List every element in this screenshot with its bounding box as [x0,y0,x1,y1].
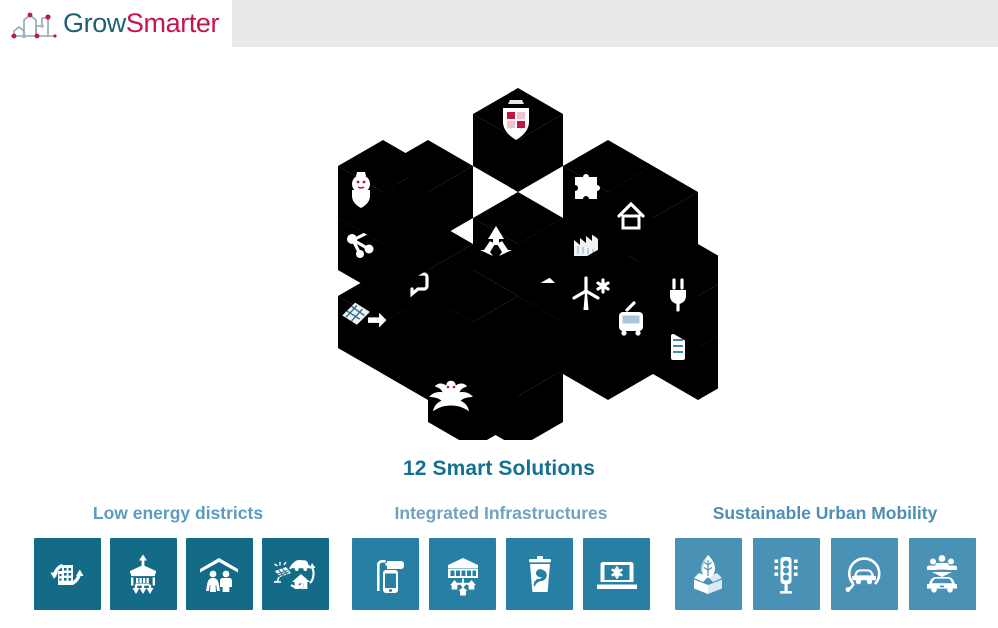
district-heating-hub-icon [439,551,487,597]
group-title-low-energy-districts: Low energy districts [10,498,346,528]
electric-car-plug-icon [840,551,888,597]
solution-tile-tenant-engagement[interactable] [186,538,253,610]
header-bar: GrowSmarter [0,0,998,47]
laptop-snowflake-icon [593,551,641,597]
solution-tile-waste-heat-recovery[interactable] [506,538,573,610]
group-title-integrated-infrastructures: Integrated Infrastructures [350,498,652,528]
brand-logo[interactable]: GrowSmarter [0,0,232,47]
solution-tiles-integrated-infrastructures [350,538,652,610]
skyline-nodes-icon [8,6,60,42]
group-sustainable-urban-mobility: Sustainable Urban Mobility [660,498,990,610]
car-sharing-people-icon [918,551,966,597]
solution-tiles-sustainable-urban-mobility [660,538,990,610]
smart-street-lamp-phone-icon [363,551,409,597]
box-leaf-delivery-icon [685,551,731,597]
solution-tile-smart-traffic-management[interactable] [753,538,820,610]
building-energy-arrows-icon [120,551,166,597]
solution-tile-district-heating-and-cooling[interactable] [429,538,496,610]
tenants-under-roof-icon [195,551,243,597]
solution-tile-smart-ict-integration[interactable] [583,538,650,610]
waste-bin-leaf-icon [517,551,563,597]
solution-tile-efficient-building-refurbishment[interactable] [34,538,101,610]
solution-tile-car-sharing-and-mobility-services[interactable] [909,538,976,610]
brand-word-grow: Grow [63,8,126,38]
solution-tile-sustainable-delivery[interactable] [675,538,742,610]
brand-wordmark: GrowSmarter [63,8,219,39]
page-title: 12 Smart Solutions [0,457,998,481]
solar-car-house-cycle-icon [271,551,319,597]
solution-tile-smart-street-lighting[interactable] [352,538,419,610]
traffic-light-icon [763,551,809,597]
group-low-energy-districts: Low energy districts [10,498,346,610]
solution-tile-alternative-fuel-vehicles[interactable] [831,538,898,610]
brand-word-smarter: Smarter [126,8,219,38]
group-title-sustainable-urban-mobility: Sustainable Urban Mobility [660,498,990,528]
solution-tile-smart-building-energy-systems[interactable] [110,538,177,610]
isometric-smart-city-cube: .c .f-top { } /* blue cube variants */ .… [318,70,718,440]
slide-canvas: GrowSmarter .c .f-top { } /* blue cube v… [0,0,998,628]
solution-tiles-low-energy-districts [10,538,346,610]
solution-tile-smart-local-electricity-management[interactable] [262,538,329,610]
building-retrofit-icon [44,551,90,597]
group-integrated-infrastructures: Integrated Infrastructures [350,498,652,610]
